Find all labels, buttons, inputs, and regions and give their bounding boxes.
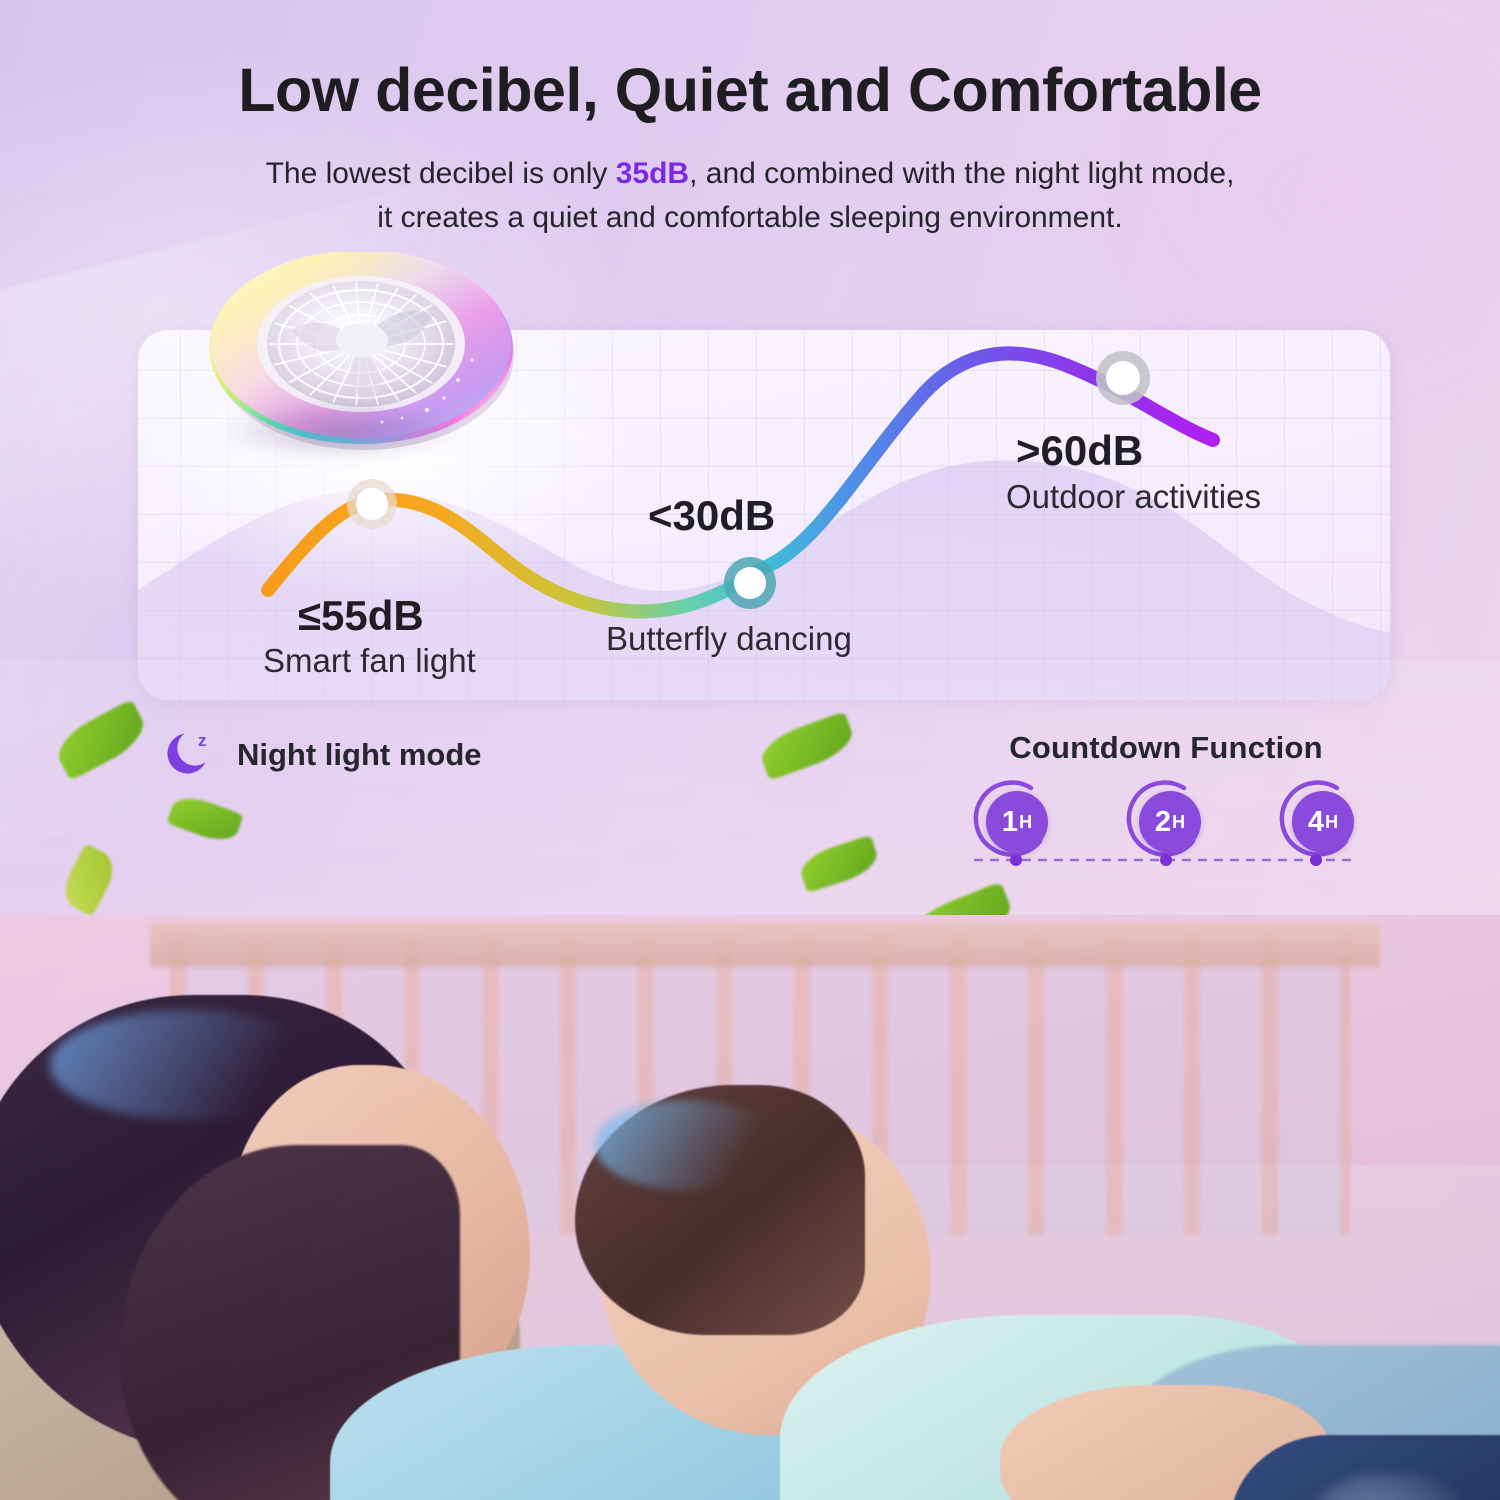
countdown-number-1: 1 [1002,808,1018,837]
countdown-options: 1H 2H 4H [966,778,1366,866]
countdown-unit-1: H [1019,812,1032,833]
label-value-30db: <30dB [648,492,775,539]
countdown-title: Countdown Function [966,730,1366,766]
night-light-mode-label: Night light mode [237,737,482,773]
countdown-number-4: 4 [1308,808,1324,837]
label-value-55db: ≤55dB [298,592,424,639]
page-subtitle: The lowest decibel is only 35dB, and com… [0,152,1500,240]
countdown-timeline [972,854,1360,866]
page-title: Low decibel, Quiet and Comfortable [0,55,1500,125]
countdown-option-2h[interactable]: 2H [1123,779,1209,865]
label-caption-outdoor-activities: Outdoor activities [1006,478,1261,515]
marker-dot-30db [734,567,766,599]
subtitle-accent-35db: 35dB [616,157,689,190]
product-image-fan-light [196,252,526,467]
product-shadow [216,402,466,460]
night-light-mode-group: z Night light mode [163,726,482,784]
marker-dot-55db [356,488,388,520]
svg-text:z: z [198,731,207,750]
countdown-option-4h[interactable]: 4H [1276,779,1362,865]
countdown-unit-4: H [1325,812,1338,833]
countdown-circle-4h: 4H [1292,791,1354,853]
countdown-circle-2h: 2H [1139,791,1201,853]
lifestyle-photo [0,915,1500,1500]
subtitle-text-2: , and combined with the night light mode… [689,157,1234,190]
countdown-circle-1h: 1H [986,791,1048,853]
label-caption-smart-fan-light: Smart fan light [263,642,476,679]
moon-z-icon: z [163,726,223,784]
product-infographic: Low decibel, Quiet and Comfortable The l… [0,0,1500,1500]
countdown-number-2: 2 [1155,808,1171,837]
photo-color-tint [0,915,1500,1500]
subtitle-line-2: it creates a quiet and comfortable sleep… [377,201,1122,234]
subtitle-text-1: The lowest decibel is only [266,157,616,190]
label-value-60db: >60dB [1016,427,1143,474]
countdown-unit-2: H [1172,812,1185,833]
label-caption-butterfly-dancing: Butterfly dancing [606,620,852,657]
marker-dot-60db [1106,361,1140,395]
countdown-function-group: Countdown Function 1H 2H [966,730,1366,866]
countdown-option-1h[interactable]: 1H [970,779,1056,865]
